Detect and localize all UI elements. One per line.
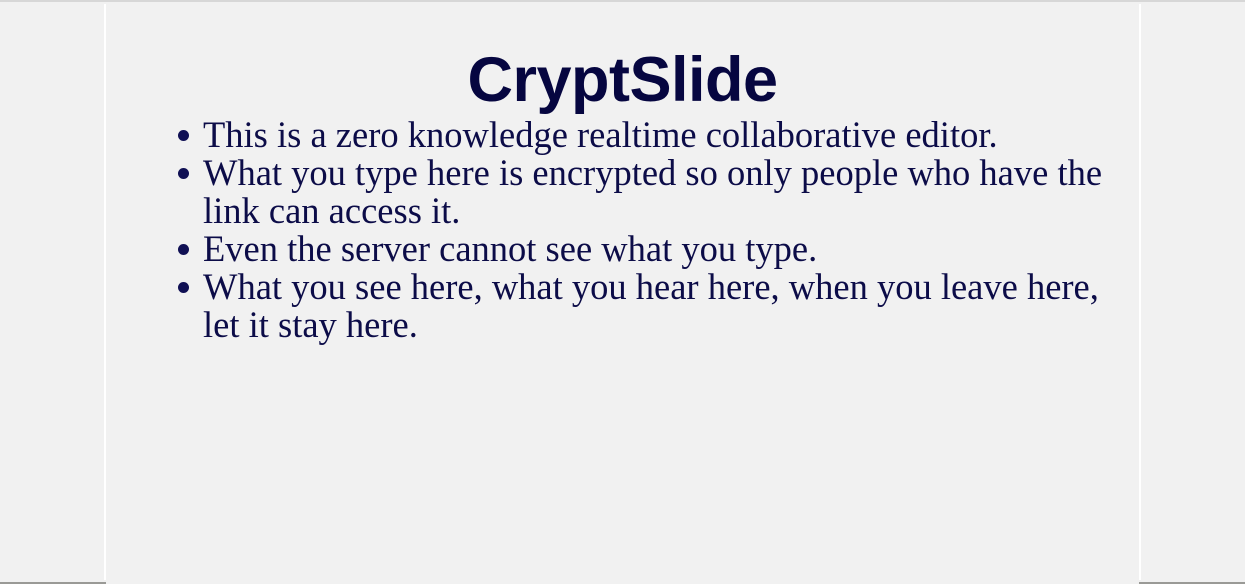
bullet-text[interactable]: Even the server cannot see what you type… (203, 230, 1109, 268)
slide-body[interactable]: This is a zero knowledge realtime collab… (106, 116, 1139, 344)
list-item[interactable]: Even the server cannot see what you type… (178, 230, 1109, 268)
app-frame: CryptSlide This is a zero knowledge real… (0, 0, 1245, 584)
right-gutter (1142, 4, 1245, 580)
bullet-text[interactable]: This is a zero knowledge realtime collab… (203, 116, 1109, 154)
slide-right-edge-rule (1139, 4, 1141, 580)
list-item[interactable]: What you type here is encrypted so only … (178, 154, 1109, 230)
slide-canvas[interactable]: CryptSlide This is a zero knowledge real… (106, 4, 1139, 584)
bullet-list: This is a zero knowledge realtime collab… (106, 116, 1139, 344)
list-item[interactable]: This is a zero knowledge realtime collab… (178, 116, 1109, 154)
bullet-text[interactable]: What you see here, what you hear here, w… (203, 268, 1109, 344)
left-gutter (0, 4, 104, 580)
slide-title[interactable]: CryptSlide (106, 46, 1139, 114)
bullet-text[interactable]: What you type here is encrypted so only … (203, 154, 1109, 230)
bullet-dot-icon (178, 168, 189, 179)
bullet-dot-icon (178, 244, 189, 255)
bullet-dot-icon (178, 282, 189, 293)
bullet-dot-icon (178, 130, 189, 141)
list-item[interactable]: What you see here, what you hear here, w… (178, 268, 1109, 344)
